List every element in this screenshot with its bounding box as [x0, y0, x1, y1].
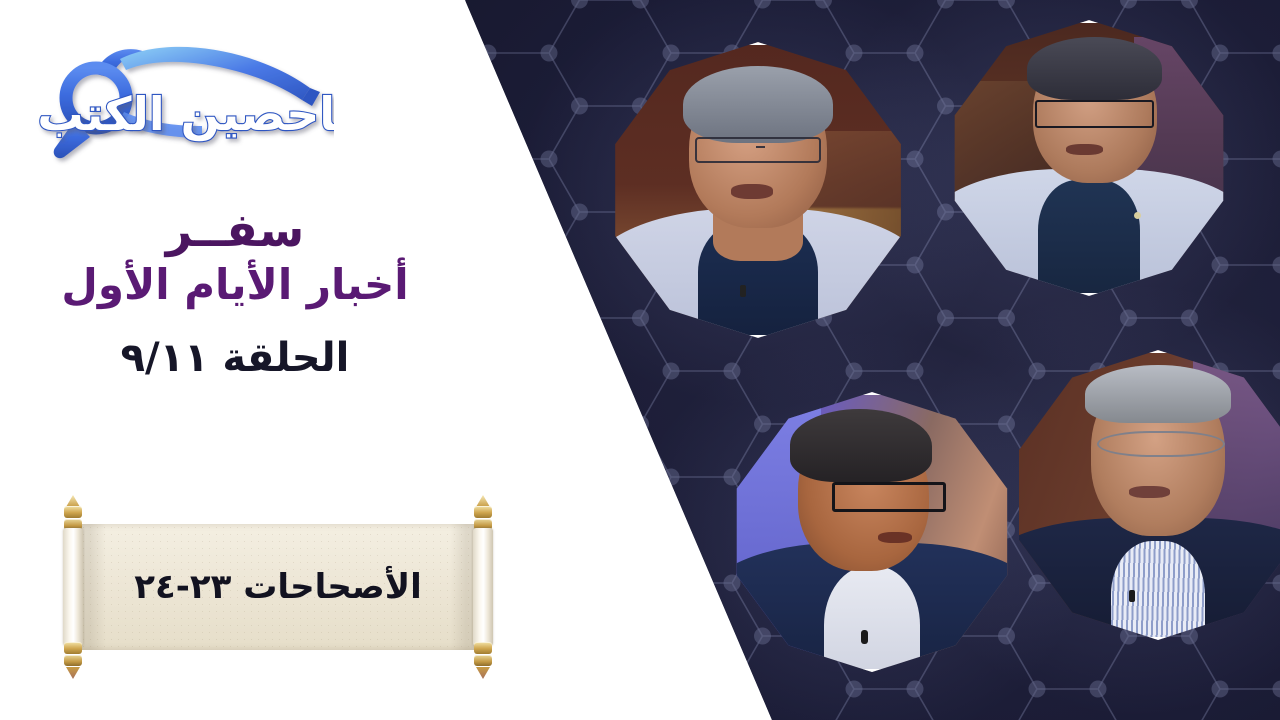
scroll-banner: الأصحاحات ٢٣-٢٤ — [36, 498, 520, 676]
logo-wordmark: فاحصين الكتب — [37, 87, 334, 141]
book-name: أخبار الأيام الأول — [0, 260, 470, 310]
title-block: سفــر أخبار الأيام الأول الحلقة ٩/١١ — [0, 206, 470, 381]
book-label-sefer: سفــر — [0, 206, 470, 256]
program-logo: فاحصين الكتب — [34, 26, 334, 186]
left-content-panel: فاحصين الكتب سفــر أخبار الأيام الأول ال… — [0, 0, 470, 720]
episode-number: الحلقة ٩/١١ — [0, 335, 470, 381]
title-card-stage: فاحصين الكتب سفــر أخبار الأيام الأول ال… — [0, 0, 1280, 720]
svg-text:فاحصين الكتب: فاحصين الكتب — [37, 87, 334, 141]
verse-range-text: الأصحاحات ٢٣-٢٤ — [80, 524, 476, 650]
